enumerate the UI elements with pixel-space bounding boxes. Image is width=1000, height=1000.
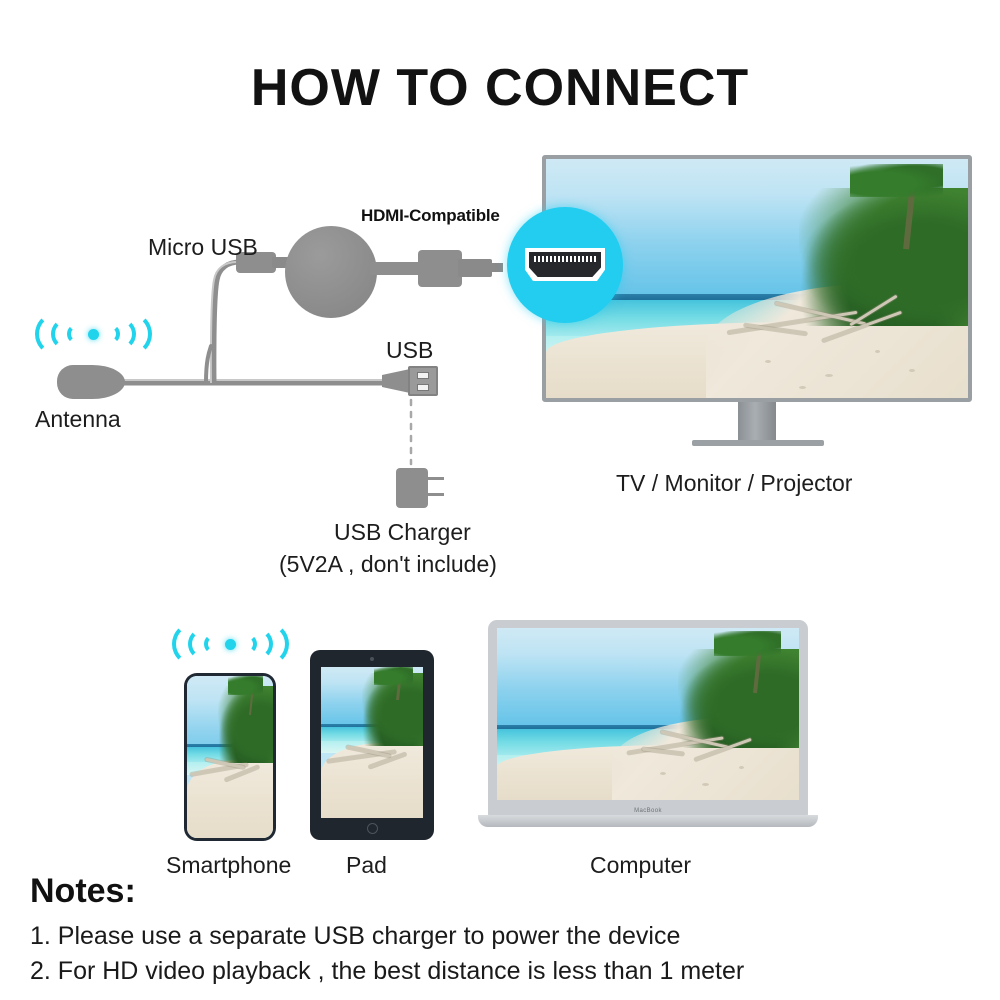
tablet-home-button[interactable] (367, 823, 378, 834)
smartphone-screen (187, 676, 273, 838)
adapter-prong-top (428, 477, 444, 480)
laptop-screen (497, 628, 799, 800)
scene-driftwood (325, 746, 419, 767)
beach-scene-image (321, 667, 423, 818)
smartphone-label: Smartphone (166, 852, 291, 879)
laptop-base (478, 815, 818, 827)
scene-foliage (218, 686, 273, 764)
wifi-dot (88, 329, 99, 340)
dongle-body (285, 226, 377, 318)
hdmi-plug-neck (489, 263, 503, 272)
cable-paths (0, 0, 1000, 1000)
display-label: TV / Monitor / Projector (616, 470, 852, 497)
antenna-body (57, 365, 125, 399)
wifi-signal-icon-phone (187, 620, 273, 668)
usb-plug-icon (382, 366, 438, 396)
laptop-brand-label: MacBook (488, 808, 808, 814)
adapter-prong-bottom (428, 493, 444, 496)
note-item-1: 1. Please use a separate USB charger to … (30, 922, 680, 951)
laptop-illustration: MacBook (478, 620, 818, 845)
page-title: HOW TO CONNECT (0, 58, 1000, 118)
hdmi-plug-tip (458, 259, 492, 277)
usb-contact-top (417, 372, 429, 379)
scene-driftwood (624, 731, 775, 759)
usb-label: USB (386, 337, 433, 364)
hdmi-magnifier-circle (507, 207, 623, 323)
scene-palm-crown (850, 164, 943, 197)
hdmi-port-pins (534, 256, 596, 262)
scene-palm-crown (714, 631, 780, 655)
power-adapter-icon (396, 468, 428, 508)
wifi-arc-left-3 (35, 312, 79, 356)
smartphone-illustration (184, 673, 276, 841)
infographic-canvas: HOW TO CONNECT (0, 0, 1000, 1000)
tablet-screen (321, 667, 423, 818)
wifi-arc-left-3 (172, 622, 216, 666)
notes-title: Notes: (30, 872, 136, 911)
tablet-illustration (310, 650, 434, 840)
laptop-lid: MacBook (488, 620, 808, 817)
antenna-label: Antenna (35, 406, 121, 433)
scene-palm-crown (374, 667, 413, 685)
usb-charger-label: USB Charger (334, 519, 471, 546)
tv-stand-neck (738, 402, 776, 442)
hdmi-port-icon (525, 248, 605, 281)
usb-plug-head (408, 366, 438, 396)
scene-driftwood (723, 302, 934, 340)
scene-driftwood (189, 757, 270, 780)
beach-scene-image (187, 676, 273, 838)
wifi-dot (225, 639, 236, 650)
dongle-hdmi-arm (370, 262, 422, 275)
tablet-camera (370, 657, 374, 661)
tv-stand-base (692, 440, 824, 446)
tablet-label: Pad (346, 852, 387, 879)
wifi-arc-right-3 (245, 622, 289, 666)
wifi-arc-right-3 (108, 312, 152, 356)
scene-palm-crown (228, 676, 262, 695)
hdmi-compatible-label: HDMI-Compatible (361, 206, 500, 226)
wifi-signal-icon-antenna (50, 310, 136, 358)
micro-usb-label: Micro USB (148, 234, 258, 261)
hdmi-plug-body (418, 250, 462, 287)
computer-label: Computer (590, 852, 691, 879)
usb-charger-spec-label: (5V2A , don't include) (279, 551, 497, 578)
usb-plug-taper (382, 369, 410, 393)
note-item-2: 2. For HD video playback , the best dist… (30, 957, 744, 986)
beach-scene-image (497, 628, 799, 800)
usb-contact-bottom (417, 384, 429, 391)
